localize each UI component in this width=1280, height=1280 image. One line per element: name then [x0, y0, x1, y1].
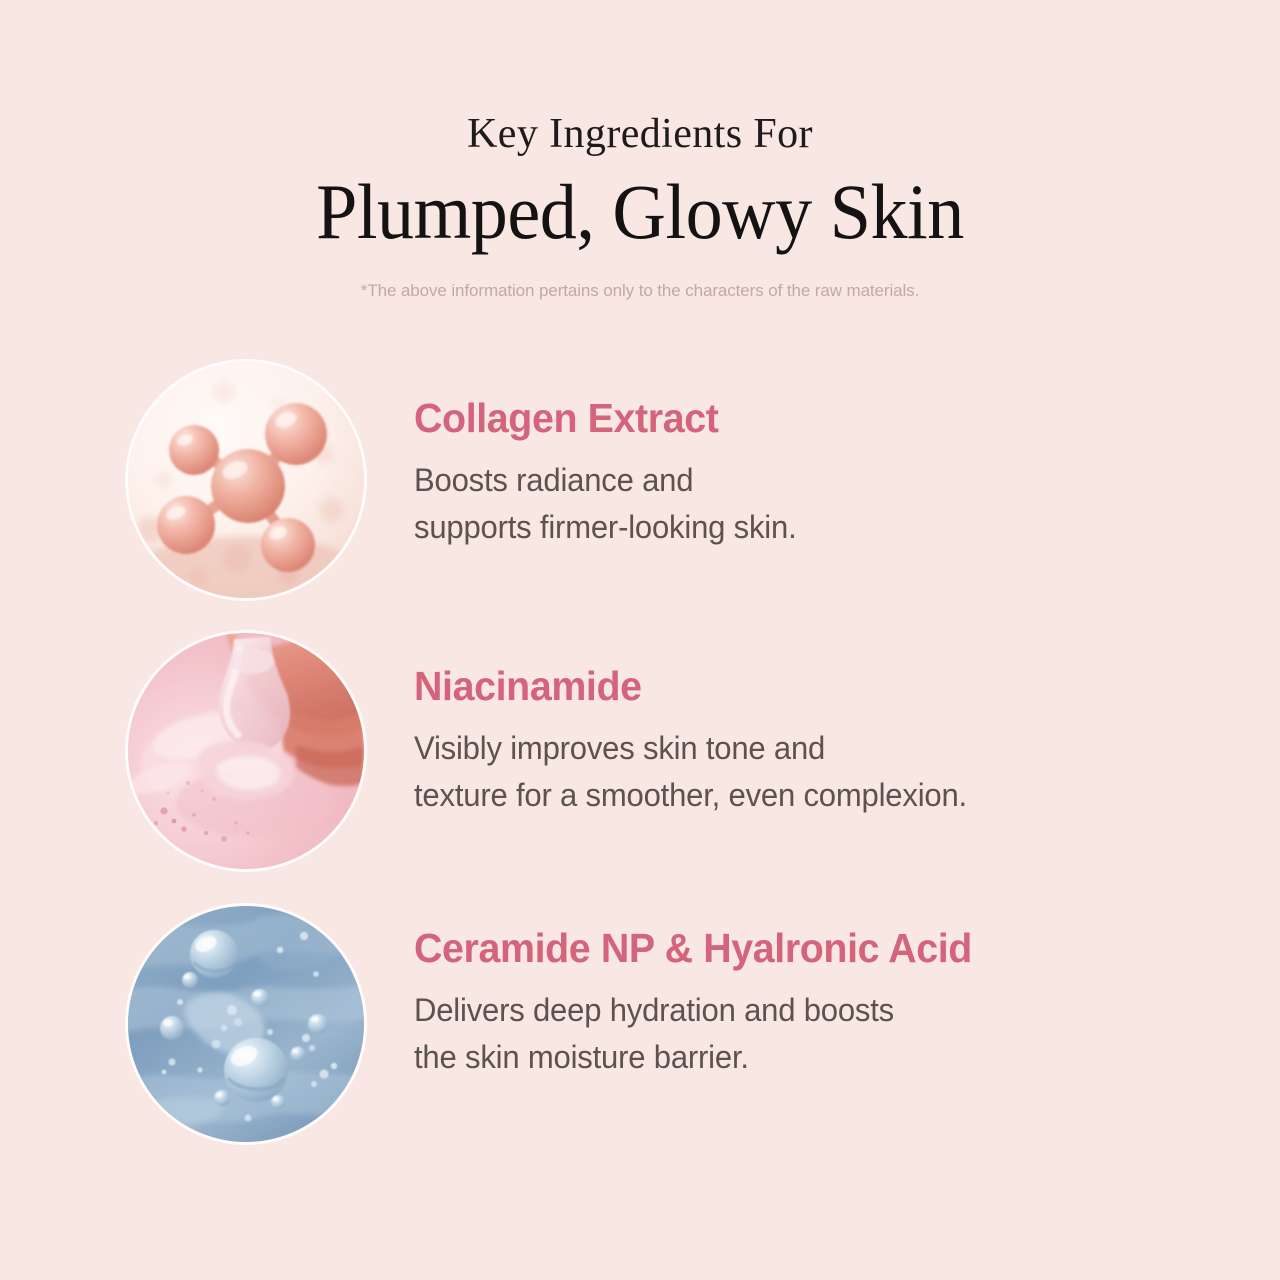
ingredient-list: Collagen Extract Boosts radiance and sup…	[0, 362, 1280, 1166]
ingredient-title: Collagen Extract	[414, 396, 1144, 441]
ingredient-copy: Ceramide NP & Hyalronic Acid Delivers de…	[414, 926, 1174, 1082]
ingredient-description: Visibly improves skin tone and texture f…	[414, 709, 1151, 820]
ingredient-title: Niacinamide	[414, 664, 1144, 709]
collagen-molecule-photo	[128, 362, 364, 598]
ingredient-description: Boosts radiance and supports firmer-look…	[414, 441, 1151, 552]
blue-water-droplets-photo	[128, 906, 364, 1142]
eyebrow-title: Key Ingredients For	[0, 0, 1280, 157]
ingredient-thumbnail-wrap	[128, 906, 364, 1142]
list-item: Niacinamide Visibly improves skin tone a…	[0, 630, 1280, 898]
pink-serum-gel-photo	[128, 633, 364, 869]
disclaimer-note: *The above information pertains only to …	[0, 251, 1280, 301]
ingredient-thumbnail-wrap	[128, 362, 364, 598]
ingredient-description: Delivers deep hydration and boosts the s…	[414, 971, 1151, 1082]
ingredient-title: Ceramide NP & Hyalronic Acid	[414, 926, 1144, 971]
ingredient-copy: Collagen Extract Boosts radiance and sup…	[414, 396, 1174, 552]
list-item: Ceramide NP & Hyalronic Acid Delivers de…	[0, 898, 1280, 1166]
ingredient-thumbnail-wrap	[128, 633, 364, 869]
ingredients-infographic: Key Ingredients For Plumped, Glowy Skin …	[0, 0, 1280, 1280]
list-item: Collagen Extract Boosts radiance and sup…	[0, 362, 1280, 630]
page-title: Plumped, Glowy Skin	[32, 157, 1248, 251]
header: Key Ingredients For Plumped, Glowy Skin …	[0, 0, 1280, 302]
ingredient-copy: Niacinamide Visibly improves skin tone a…	[414, 664, 1174, 820]
